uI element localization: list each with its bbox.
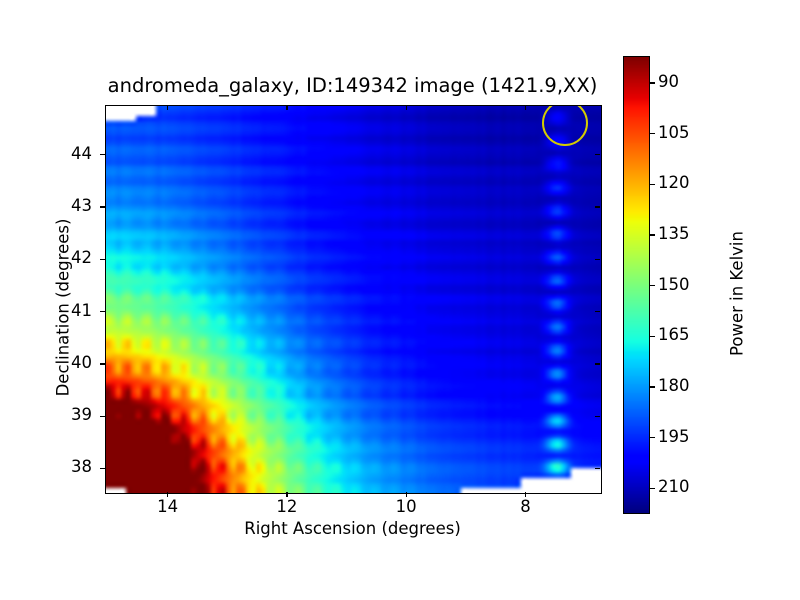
y-tick-mark [100,154,105,155]
y-tick-label: 44 [32,146,92,163]
x-tick-mark-top [525,105,526,110]
figure-canvas: andromeda_galaxy, ID:149342 image (1421.… [0,0,800,600]
colorbar-tick-mark [650,133,655,134]
colorbar-tick-mark [650,285,655,286]
y-axis-label: Declination (degrees) [54,183,73,433]
x-tick-label: 8 [495,498,555,516]
colorbar-tick-label: 135 [658,226,690,243]
y-tick-mark-right [595,206,600,207]
colorbar-tick-label: 210 [658,479,690,496]
x-axis-label: Right Ascension (degrees) [105,519,600,538]
colorbar-tick-label: 195 [658,429,690,446]
y-tick-mark-right [595,154,600,155]
colorbar-tick-mark [650,82,655,83]
x-tick-mark-top [406,105,407,110]
y-tick-mark-right [595,311,600,312]
colorbar-tick-mark [650,386,655,387]
y-tick-mark [100,416,105,417]
y-tick-label: 38 [32,459,92,476]
x-tick-mark-top [167,105,168,110]
colorbar-tick-label: 120 [658,175,690,192]
y-tick-mark [100,311,105,312]
colorbar-tick-label: 180 [658,378,690,395]
x-tick-label: 10 [376,498,436,516]
y-tick-mark [100,259,105,260]
y-tick-mark [100,363,105,364]
x-tick-label: 14 [138,498,198,516]
colorbar-tick-mark [650,437,655,438]
colorbar-tick-mark [650,184,655,185]
colorbar-tick-mark [650,488,655,489]
page-title: andromeda_galaxy, ID:149342 image (1421.… [105,76,600,96]
colorbar-tick-label: 90 [658,74,679,91]
y-tick-mark-right [595,416,600,417]
y-tick-mark-right [595,468,600,469]
y-tick-mark-right [595,363,600,364]
y-tick-mark-right [595,259,600,260]
colorbar-tick-label: 105 [658,125,690,142]
heatmap-axes[interactable] [105,105,602,494]
colorbar-gradient [624,57,649,513]
y-tick-mark [100,468,105,469]
colorbar-tick-mark [650,234,655,235]
colorbar-tick-label: 150 [658,277,690,294]
colorbar-tick-label: 165 [658,327,690,344]
heatmap-image [106,106,601,493]
colorbar-label: Power in Kelvin [728,169,747,419]
colorbar-tick-mark [650,336,655,337]
x-tick-label: 12 [257,498,317,516]
y-tick-mark [100,206,105,207]
colorbar[interactable] [623,56,650,514]
x-tick-mark-top [286,105,287,110]
